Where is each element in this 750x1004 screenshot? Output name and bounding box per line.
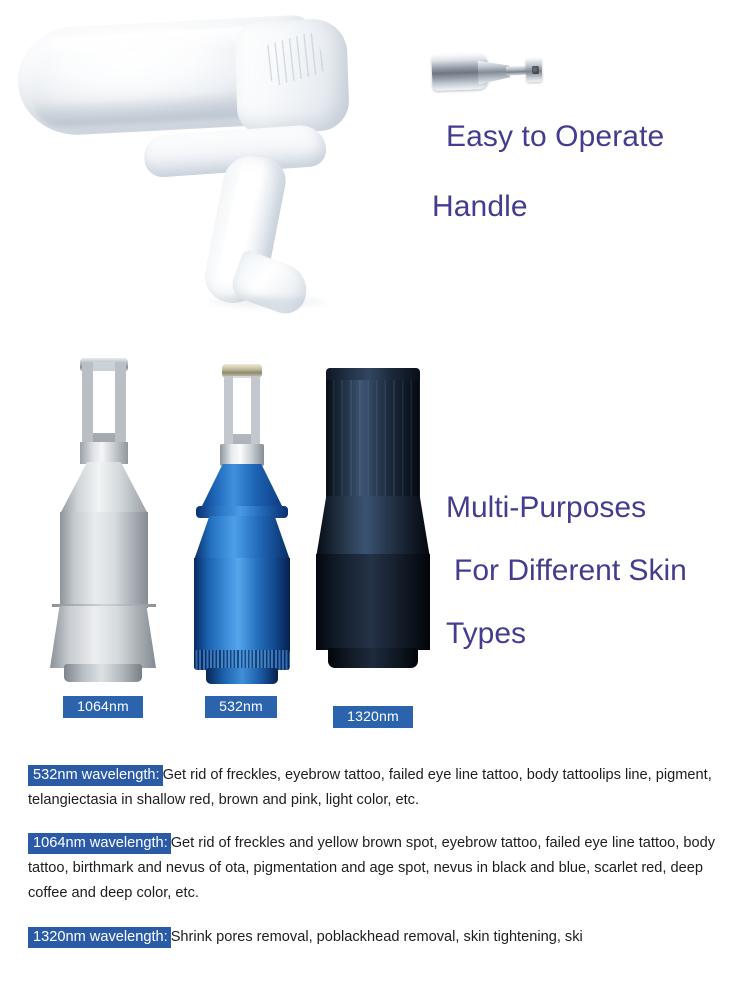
- tip-label-wrap-1320nm: 1320nm: [308, 706, 438, 728]
- tip-knurled-ring: [194, 650, 290, 670]
- tips-row: 1064nm 532nm: [0, 330, 440, 730]
- wavelength-chip-1064nm: 1064nm: [63, 696, 143, 718]
- tip-barrel: [194, 558, 290, 654]
- tip-lower-body: [316, 554, 430, 650]
- laser-handpiece-image: [8, 8, 438, 298]
- handpiece-heading-line-1: Easy to Operate: [446, 120, 664, 154]
- description-tag-1064nm: 1064nm wavelength:: [28, 833, 171, 854]
- tip-cone: [200, 464, 284, 510]
- tips-section: 1064nm 532nm: [0, 330, 750, 730]
- tip-barrel-lines: [326, 380, 420, 498]
- tip-base: [64, 664, 142, 682]
- tips-heading-line-2: For Different Skin: [446, 539, 687, 602]
- handpiece-shadow: [208, 296, 328, 308]
- tip-card-1064nm: 1064nm: [38, 358, 168, 688]
- wavelength-chip-1320nm: 1320nm: [333, 706, 413, 728]
- tip-chrome-band: [220, 444, 264, 466]
- tip-cone-lower: [194, 516, 290, 560]
- tips-heading-line-3: Types: [446, 602, 687, 665]
- emitter-aperture-icon: [532, 66, 539, 74]
- tip-card-532nm: 532nm: [176, 358, 306, 688]
- tip-card-1320nm: 1320nm: [308, 368, 438, 698]
- description-1064nm: 1064nm wavelength:Get rid of freckles an…: [28, 831, 734, 906]
- tip-label-wrap-1064nm: 1064nm: [38, 696, 168, 718]
- laser-tip-1320nm-icon: [308, 368, 438, 698]
- tip-window-hole: [233, 378, 251, 434]
- laser-tip-1064nm-icon: [38, 358, 168, 688]
- tips-heading-line-1: Multi-Purposes: [446, 476, 687, 539]
- tips-heading: Multi-Purposes For Different Skin Types: [446, 476, 687, 665]
- tip-flare: [50, 606, 156, 668]
- tip-cone: [316, 496, 430, 558]
- description-532nm: 532nm wavelength:Get rid of freckles, ey…: [28, 763, 734, 813]
- tip-neck: [80, 442, 128, 464]
- laser-tip-532nm-icon: [176, 358, 306, 688]
- description-text-1320nm: Shrink pores removal, poblackhead remova…: [171, 929, 583, 945]
- tip-window-hole: [93, 371, 115, 433]
- handpiece-heading-line-2: Handle: [432, 190, 528, 224]
- description-tag-1320nm: 1320nm wavelength:: [28, 927, 171, 948]
- handpiece-grip-tail: [228, 249, 314, 319]
- handpiece-section: Easy to Operate Handle: [0, 0, 750, 320]
- tip-base: [206, 668, 278, 684]
- wavelength-chip-532nm: 532nm: [205, 696, 277, 718]
- tip-barrel: [60, 512, 148, 608]
- description-1320nm: 1320nm wavelength:Shrink pores removal, …: [28, 925, 734, 950]
- tip-cone: [60, 462, 148, 514]
- tip-base: [328, 648, 418, 668]
- tip-label-wrap-532nm: 532nm: [176, 696, 306, 718]
- description-tag-532nm: 532nm wavelength:: [28, 765, 163, 786]
